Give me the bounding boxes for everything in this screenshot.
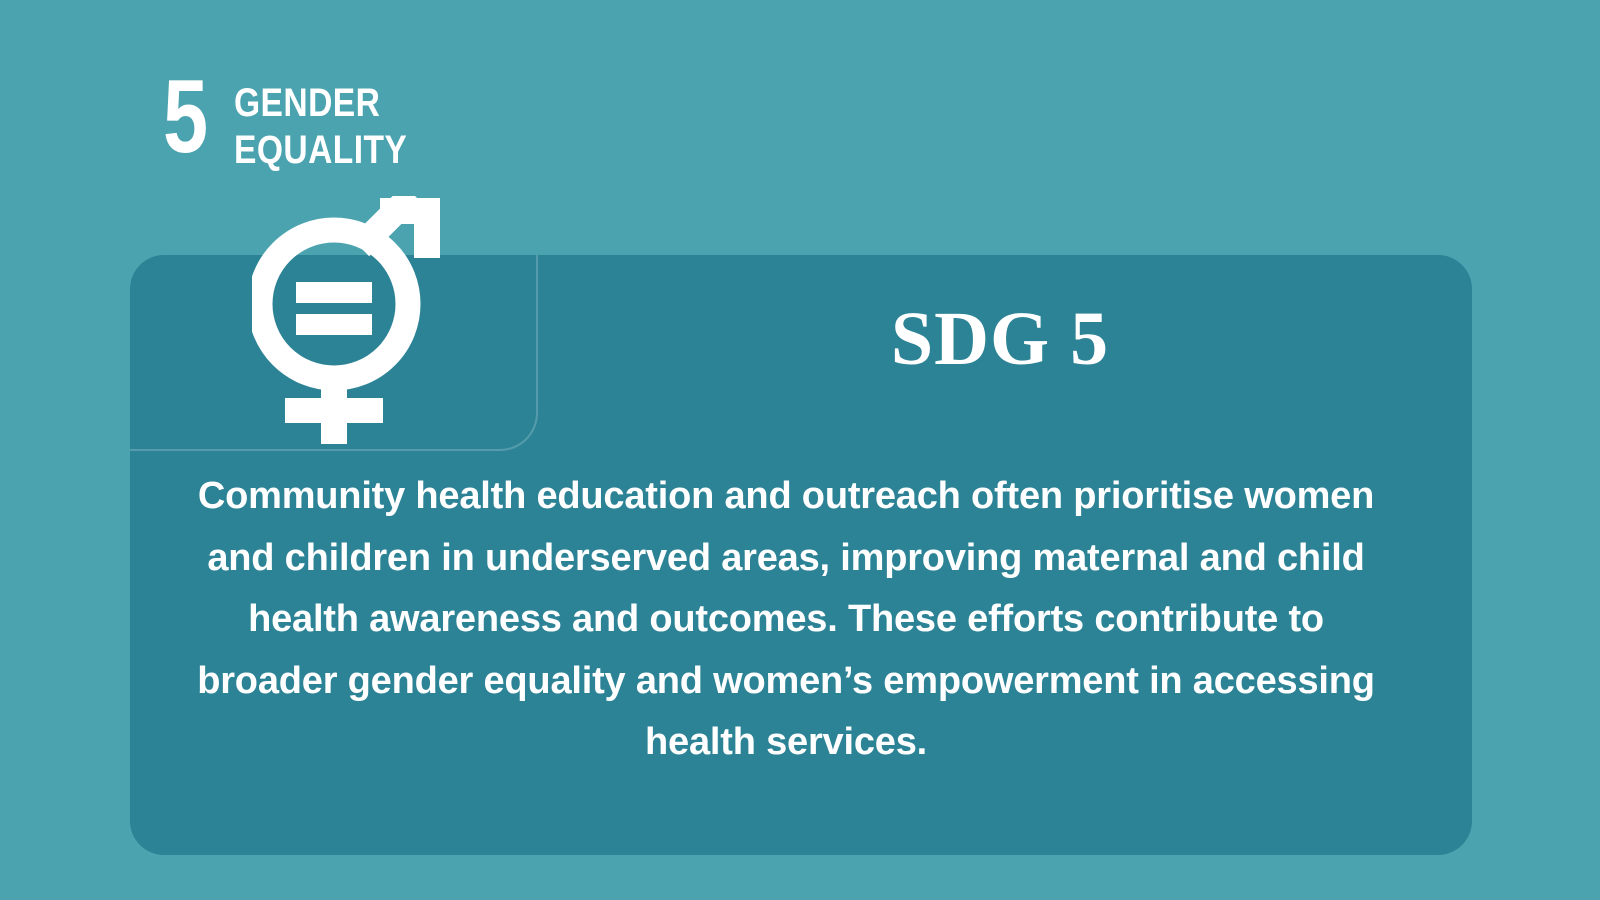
- gender-equality-icon: [252, 196, 442, 446]
- sdg-goal-title: GENDER EQUALITY: [234, 74, 440, 170]
- sdg-goal-number: 5: [163, 74, 207, 161]
- slide-canvas: 5 GENDER EQUALITY: [0, 0, 1600, 900]
- sdg-goal-title-line-2: EQUALITY: [234, 131, 407, 169]
- sdg-goal-logo: 5 GENDER EQUALITY: [163, 74, 440, 174]
- card-body-text: Community health education and outreach …: [180, 466, 1392, 774]
- card-title: SDG 5: [540, 300, 1460, 380]
- sdg-goal-title-line-1: GENDER: [234, 84, 407, 122]
